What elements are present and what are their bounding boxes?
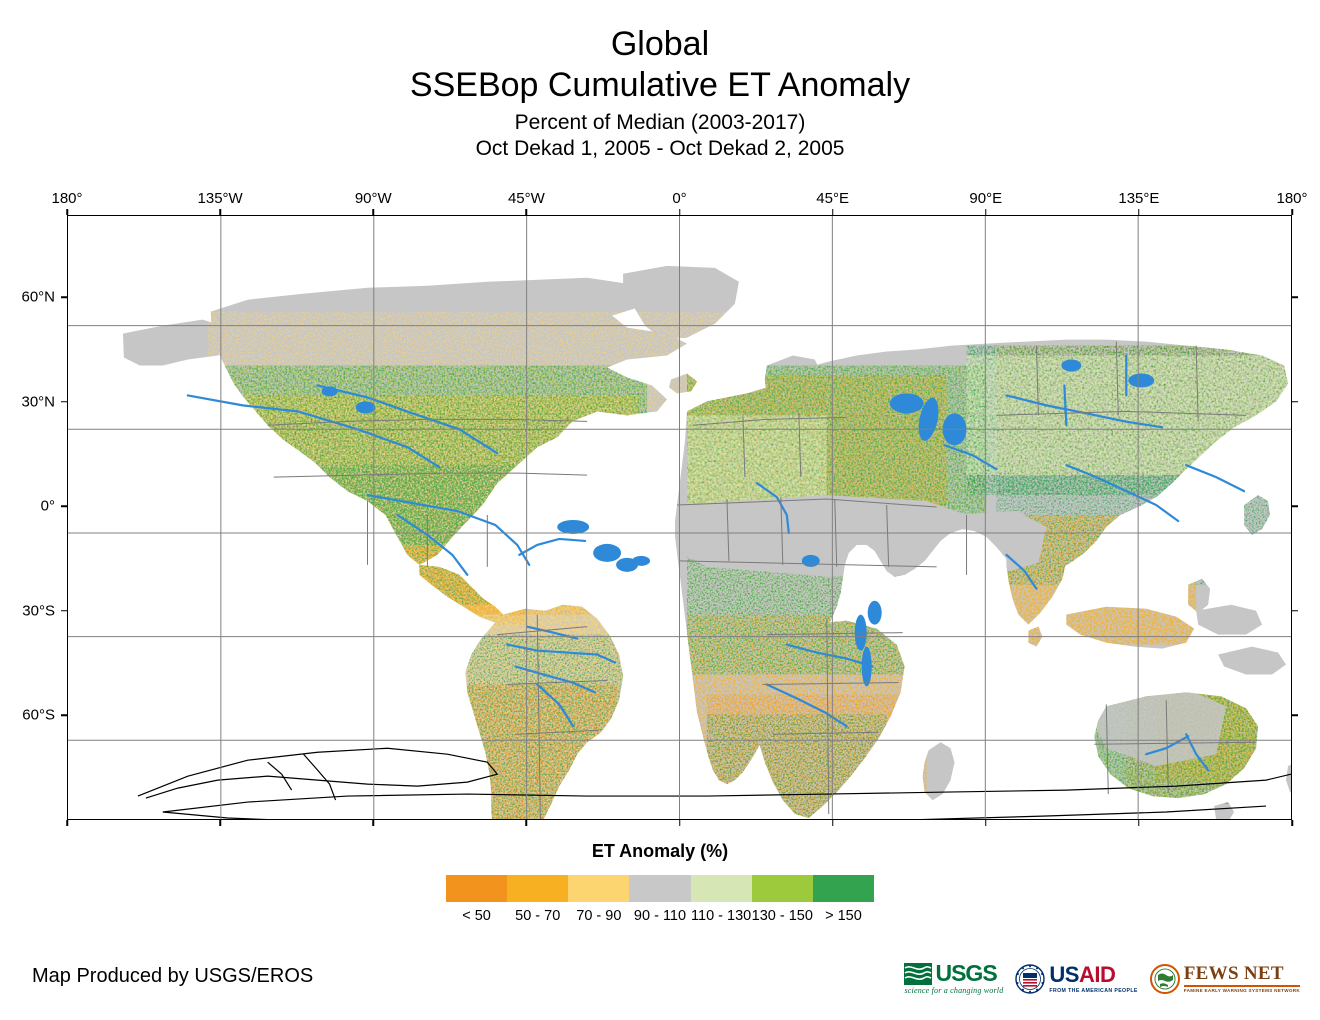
lat-tick-label-1: 30°N [21, 393, 55, 410]
page-subtitle-1: Percent of Median (2003-2017) [0, 109, 1320, 136]
lon-tick-label-6: 90°E [969, 190, 1002, 207]
legend-swatch-3 [629, 875, 690, 902]
legend-label-3: 90 - 110 [634, 906, 686, 926]
legend-swatch-0 [446, 875, 507, 902]
logo-strip: USGS science for a changing world USAID [904, 957, 1300, 1001]
world-map-svg [68, 216, 1291, 819]
legend-label-0: < 50 [462, 906, 491, 926]
lon-tick-mark [373, 820, 375, 826]
legend-label-1: 50 - 70 [515, 906, 560, 926]
map-credit: Map Produced by USGS/EROS [32, 963, 313, 989]
usaid-wordmark-aid: AID [1079, 962, 1115, 987]
lon-tick-label-1: 135°W [198, 190, 243, 207]
usgs-wordmark: USGS [935, 962, 996, 985]
legend-swatch-4 [691, 875, 752, 902]
fews-net-rule [1184, 985, 1300, 987]
lon-tick-mark [679, 209, 681, 215]
legend-labels: < 5050 - 7070 - 9090 - 110110 - 130130 -… [436, 906, 884, 926]
usgs-wave-icon [904, 963, 932, 985]
lat-tick-label-0: 60°N [21, 289, 55, 306]
lon-tick-label-8: 180° [1276, 190, 1307, 207]
page-title-line-1: Global [0, 24, 1320, 64]
lat-tick-label-3: 30°S [22, 602, 55, 619]
usaid-wordmark-us: US [1049, 962, 1079, 987]
lon-tick-mark [1138, 209, 1140, 215]
lon-tick-mark [66, 820, 68, 826]
legend-label-4: 110 - 130 [691, 906, 751, 926]
lon-tick-mark [219, 209, 221, 215]
lon-tick-mark [832, 820, 834, 826]
page-subtitle-2: Oct Dekad 1, 2005 - Oct Dekad 2, 2005 [0, 136, 1320, 162]
legend-swatch-2 [568, 875, 629, 902]
lon-tick-label-5: 45°E [816, 190, 849, 207]
lon-tick-label-7: 135°E [1118, 190, 1159, 207]
lat-tick-mark [61, 506, 67, 508]
lat-tick-mark [61, 296, 67, 298]
lat-tick-label-2: 0° [41, 498, 55, 515]
legend-swatch-1 [507, 875, 568, 902]
lat-tick-mark [61, 401, 67, 403]
lon-tick-mark [526, 209, 528, 215]
lon-tick-label-0: 180° [51, 190, 82, 207]
lon-tick-mark [985, 209, 987, 215]
lon-tick-mark [526, 820, 528, 826]
lat-tick-mark [1292, 610, 1298, 612]
map-frame[interactable] [67, 215, 1292, 820]
lon-tick-label-3: 45°W [508, 190, 545, 207]
lon-tick-mark [373, 209, 375, 215]
lon-tick-label-2: 90°W [355, 190, 392, 207]
legend-color-bar [446, 875, 874, 902]
lon-tick-mark [1138, 820, 1140, 826]
usgs-tagline: science for a changing world [904, 986, 1003, 996]
lon-tick-mark [832, 209, 834, 215]
lat-tick-mark [1292, 715, 1298, 717]
lon-tick-mark [679, 820, 681, 826]
usaid-tagline: FROM THE AMERICAN PEOPLE [1049, 988, 1137, 995]
title-block: Global SSEBop Cumulative ET Anomaly Perc… [0, 24, 1320, 162]
legend: ET Anomaly (%) < 5050 - 7070 - 9090 - 11… [0, 840, 1320, 926]
lon-tick-mark [219, 820, 221, 826]
lat-tick-mark [61, 610, 67, 612]
lat-tick-mark [1292, 506, 1298, 508]
fews-net-tagline: FAMINE EARLY WARNING SYSTEMS NETWORK [1184, 988, 1300, 994]
legend-label-6: > 150 [825, 906, 862, 926]
lat-tick-label-4: 60°S [22, 707, 55, 724]
legend-swatch-6 [813, 875, 874, 902]
lon-tick-label-4: 0° [672, 190, 686, 207]
lat-tick-mark [1292, 296, 1298, 298]
lon-tick-mark [66, 209, 68, 215]
fews-globe-icon [1150, 964, 1180, 994]
fews-net-logo[interactable]: FEWS NET FAMINE EARLY WARNING SYSTEMS NE… [1150, 958, 1300, 1000]
page-title-line-2: SSEBop Cumulative ET Anomaly [0, 64, 1320, 106]
lon-tick-mark [1291, 820, 1293, 826]
lon-tick-mark [985, 820, 987, 826]
lon-tick-mark [1291, 209, 1293, 215]
legend-title: ET Anomaly (%) [0, 840, 1320, 862]
usaid-seal-icon [1015, 964, 1045, 994]
legend-label-2: 70 - 90 [576, 906, 621, 926]
usaid-logo[interactable]: USAID FROM THE AMERICAN PEOPLE [1015, 958, 1137, 1000]
fews-net-wordmark: FEWS NET [1184, 964, 1284, 984]
lat-tick-mark [61, 715, 67, 717]
map-area: 180°135°W90°W45°W0°45°E90°E135°E180° 60°… [67, 215, 1292, 820]
usgs-logo[interactable]: USGS science for a changing world [904, 958, 1003, 1000]
legend-label-5: 130 - 150 [752, 906, 813, 926]
legend-swatch-5 [752, 875, 813, 902]
lat-tick-mark [1292, 401, 1298, 403]
